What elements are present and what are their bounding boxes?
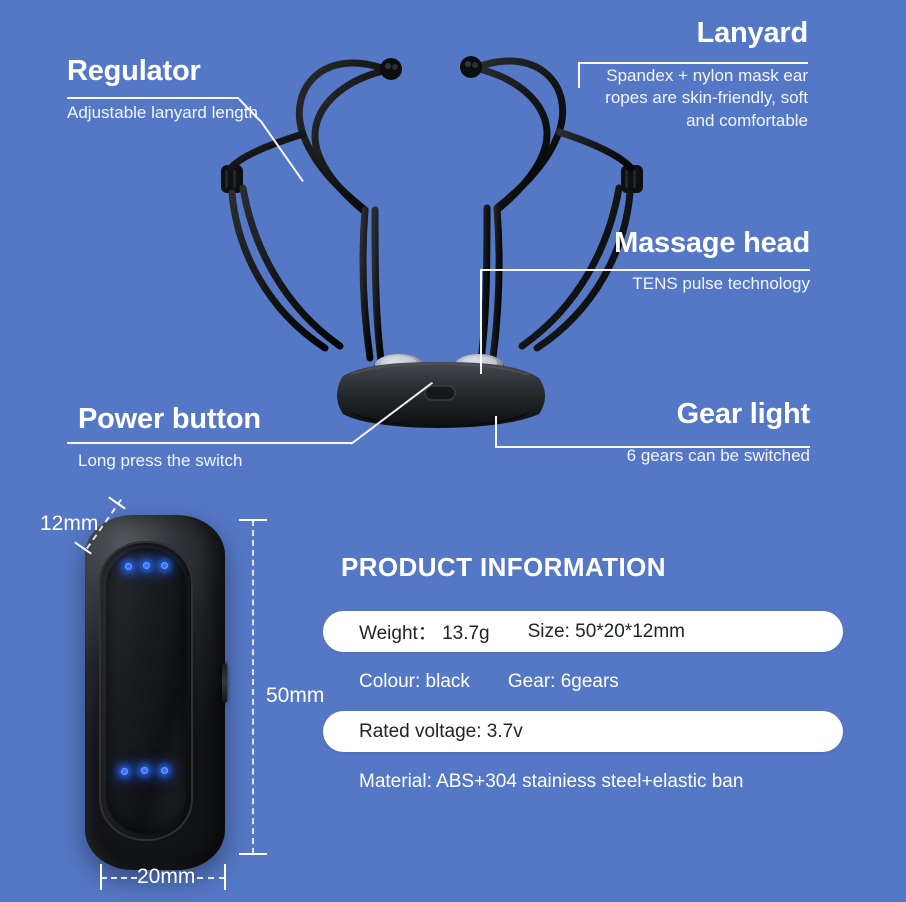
led-indicator bbox=[141, 767, 148, 774]
info-cell-weight: Weight： 13.7g bbox=[359, 618, 490, 645]
dimension-cap-width-left bbox=[100, 864, 102, 890]
led-indicator bbox=[143, 562, 150, 569]
dimension-label-width: 20mm bbox=[137, 865, 195, 889]
callout-gear-light: Gear light 6 gears can be switched bbox=[560, 399, 810, 467]
row-spacer bbox=[323, 702, 843, 711]
callout-body-massage-head: TENS pulse technology bbox=[560, 273, 810, 295]
callout-title-regulator: Regulator bbox=[67, 56, 267, 87]
led-indicator bbox=[161, 562, 168, 569]
dimension-label-thickness: 12mm bbox=[40, 512, 98, 536]
callout-body-regulator: Adjustable lanyard length bbox=[67, 102, 267, 124]
leader-vertical-gear-light bbox=[495, 416, 497, 446]
callout-body-power-button: Long press the switch bbox=[78, 450, 261, 472]
product-photo-device-front bbox=[85, 515, 225, 870]
callout-massage-head: Massage head TENS pulse technology bbox=[560, 228, 810, 295]
product-information-heading: PRODUCT INFORMATION bbox=[341, 552, 843, 583]
callout-power-button: Power button Long press the switch bbox=[78, 404, 261, 472]
dimension-line-height bbox=[252, 520, 254, 854]
dimension-cap-height-bottom bbox=[239, 853, 267, 855]
leader-rule-gear-light bbox=[495, 446, 810, 448]
device-side-button bbox=[222, 663, 227, 703]
leader-rule-lanyard bbox=[578, 62, 808, 64]
led-indicator bbox=[161, 767, 168, 774]
callout-body-gear-light: 6 gears can be switched bbox=[560, 445, 810, 467]
dimension-label-height: 50mm bbox=[266, 684, 324, 708]
dimension-cap-height-top bbox=[239, 519, 267, 521]
product-infographic: Regulator Adjustable lanyard length Lany… bbox=[0, 0, 906, 902]
product-information-section: PRODUCT INFORMATION Weight： 13.7g Size: … bbox=[323, 552, 843, 802]
row-spacer bbox=[323, 752, 843, 761]
info-row-weight-size: Weight： 13.7g Size: 50*20*12mm bbox=[323, 611, 843, 652]
leader-rule-power-button bbox=[67, 442, 352, 444]
info-row-colour-gear: Colour: black Gear: 6gears bbox=[323, 661, 843, 702]
info-cell-material: Material: ABS+304 stainiess steel+elasti… bbox=[359, 771, 743, 793]
callout-title-massage-head: Massage head bbox=[560, 228, 810, 259]
callout-body-lanyard: Spandex + nylon mask ear ropes are skin-… bbox=[578, 65, 808, 131]
callout-title-power-button: Power button bbox=[78, 404, 261, 435]
led-indicator bbox=[125, 563, 132, 570]
callout-lanyard: Lanyard Spandex + nylon mask ear ropes a… bbox=[578, 18, 808, 132]
info-cell-gear: Gear: 6gears bbox=[508, 671, 619, 693]
leader-rule-massage-head bbox=[480, 269, 810, 271]
leader-vertical-lanyard bbox=[578, 62, 580, 88]
row-spacer bbox=[323, 652, 843, 661]
callout-regulator: Regulator Adjustable lanyard length bbox=[67, 56, 267, 124]
dimension-cap-thickness-top bbox=[108, 496, 126, 509]
info-row-material: Material: ABS+304 stainiess steel+elasti… bbox=[323, 761, 843, 802]
dimension-line-width-left bbox=[101, 877, 137, 879]
callout-title-gear-light: Gear light bbox=[560, 399, 810, 430]
info-cell-size: Size: 50*20*12mm bbox=[528, 621, 685, 643]
callout-title-lanyard: Lanyard bbox=[578, 18, 808, 49]
info-row-rated-voltage: Rated voltage: 3.7v bbox=[323, 711, 843, 752]
dimension-line-width-right bbox=[197, 877, 225, 879]
info-cell-rated-voltage: Rated voltage: 3.7v bbox=[359, 721, 523, 743]
info-cell-colour: Colour: black bbox=[359, 671, 470, 693]
led-indicator bbox=[121, 768, 128, 775]
leader-rule-regulator bbox=[67, 97, 239, 99]
dimension-cap-width-right bbox=[224, 864, 226, 890]
leader-vertical-massage-head bbox=[480, 269, 482, 374]
device-screen bbox=[106, 548, 186, 834]
